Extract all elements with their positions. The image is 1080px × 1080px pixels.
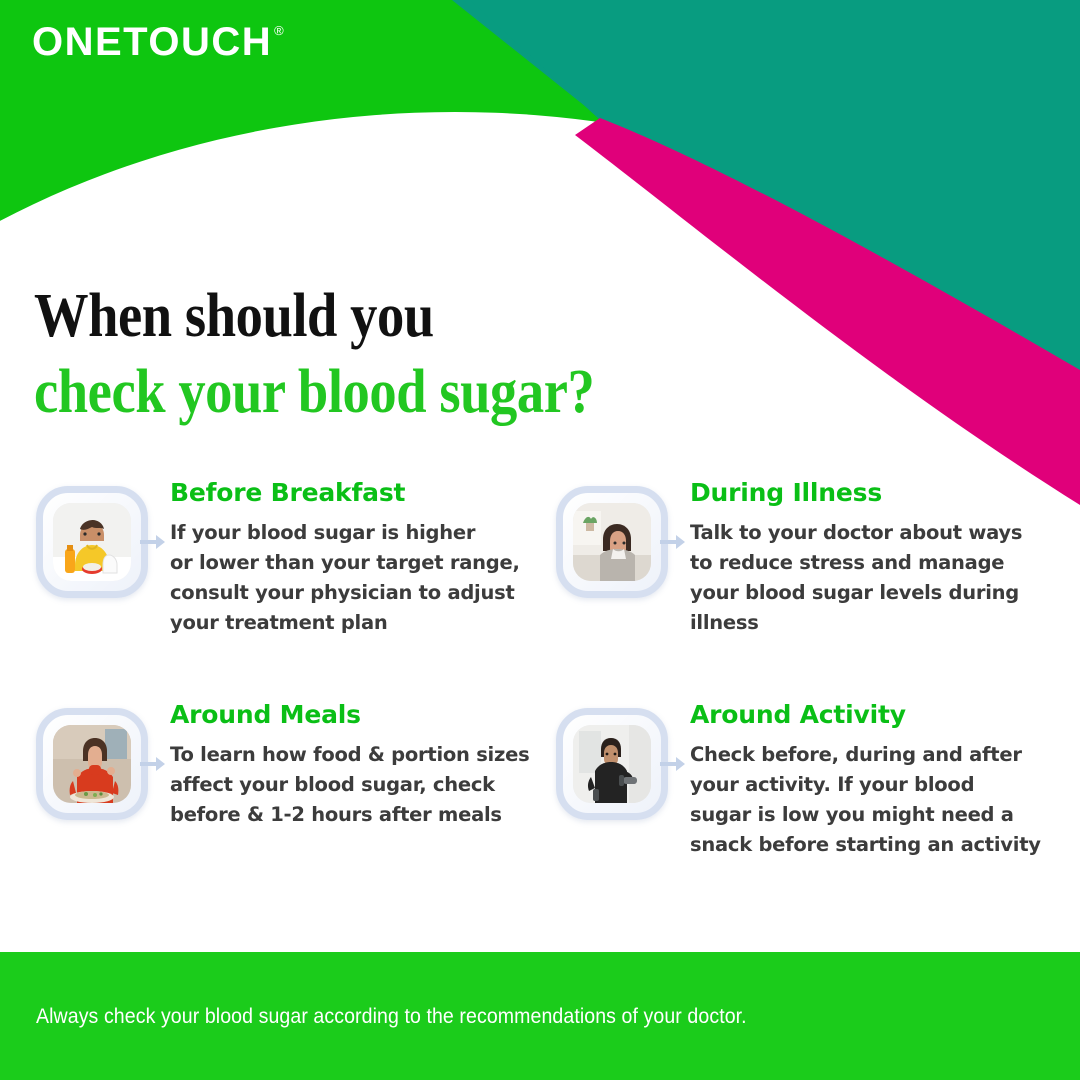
breakfast-photo-icon [53,503,131,581]
tips-grid: Before Breakfast If your blood sugar is … [36,478,1046,860]
illness-icon-frame [556,486,668,598]
page-title-line-2: check your blood sugar? [34,354,594,430]
footer-banner: Always check your blood sugar according … [0,952,1080,1080]
tip-card-around-meals: Around Meals To learn how food & portion… [36,700,556,860]
arrow-right-icon [140,531,166,553]
arrow-right-icon [660,753,686,775]
card-title-around-meals: Around Meals [170,700,529,730]
activity-icon-frame [556,708,668,820]
card-text-block: Before Breakfast If your blood sugar is … [148,478,520,638]
card-title-during-illness: During Illness [690,478,1022,508]
footer-disclaimer-text: Always check your blood sugar according … [36,1004,747,1030]
card-text-block: Around Meals To learn how food & portion… [148,700,529,830]
tip-card-during-illness: During Illness Talk to your doctor about… [556,478,1046,638]
activity-photo-icon [573,725,651,803]
card-text-block: Around Activity Check before, during and… [668,700,1041,860]
page-title: When should you check your blood sugar? [34,278,671,430]
card-title-before-breakfast: Before Breakfast [170,478,520,508]
registered-trademark-icon: ® [274,24,284,37]
page-title-line-1: When should you [34,278,594,354]
card-body-around-activity: Check before, during and after your acti… [690,740,1041,860]
brand-logo-text: ONETOUCH [32,22,272,62]
arrow-right-icon [660,531,686,553]
card-title-around-activity: Around Activity [690,700,1041,730]
arrow-right-icon [140,753,166,775]
brand-logo: ONETOUCH ® [32,22,284,62]
card-body-around-meals: To learn how food & portion sizes affect… [170,740,529,830]
meals-icon-frame [36,708,148,820]
card-body-during-illness: Talk to your doctor about ways to reduce… [690,518,1022,638]
tip-card-around-activity: Around Activity Check before, during and… [556,700,1046,860]
illness-photo-icon [573,503,651,581]
breakfast-icon-frame [36,486,148,598]
tip-card-before-breakfast: Before Breakfast If your blood sugar is … [36,478,556,638]
meals-photo-icon [53,725,131,803]
card-body-before-breakfast: If your blood sugar is higher or lower t… [170,518,520,638]
card-text-block: During Illness Talk to your doctor about… [668,478,1022,638]
infographic-poster: ONETOUCH ® When should you check your bl… [0,0,1080,1080]
